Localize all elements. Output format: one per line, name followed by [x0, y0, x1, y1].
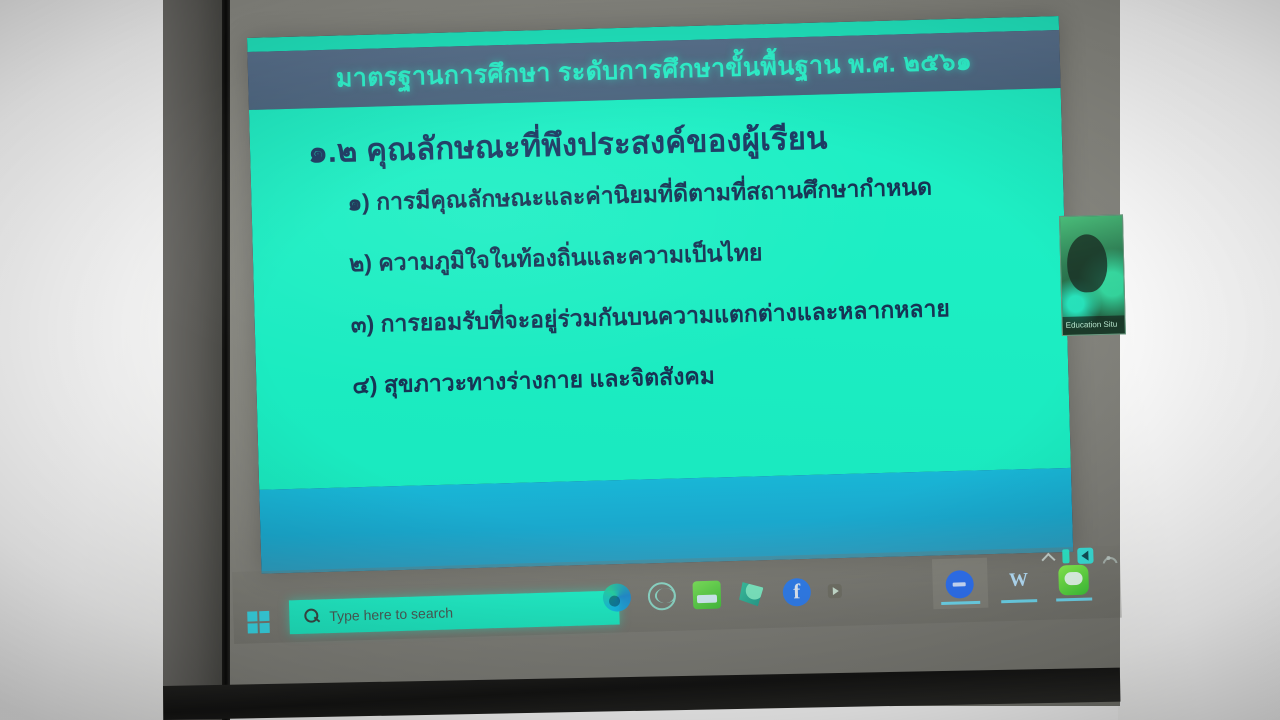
- slide-body: ๑.๒ คุณลักษณะที่พึงประสงค์ของผู้เรียน ๑)…: [249, 88, 1071, 490]
- media-play-icon[interactable]: [828, 584, 842, 598]
- screen-frame-left: [163, 0, 223, 720]
- windows-start-icon[interactable]: [247, 611, 274, 638]
- list-item: ๒) ความภูมิใจในท้องถิ่นและความเป็นไทย: [349, 227, 1050, 282]
- list-item: ๑) การมีคุณลักษณะและค่านิยมที่ดีตามที่สถ…: [347, 166, 1048, 221]
- running-indicator: [1001, 599, 1037, 603]
- volume-icon[interactable]: [1077, 547, 1093, 563]
- video-thumbnail-caption: Education Situ: [1062, 315, 1124, 335]
- photos-icon[interactable]: [692, 581, 721, 610]
- facebook-icon[interactable]: f: [782, 578, 811, 607]
- wifi-icon[interactable]: [1101, 548, 1117, 561]
- running-indicator: [941, 601, 980, 605]
- search-placeholder: Type here to search: [329, 604, 453, 624]
- video-thumbnail[interactable]: Education Situ: [1059, 214, 1126, 336]
- battery-icon[interactable]: [1062, 549, 1069, 563]
- taskbar-running-zoom[interactable]: [932, 558, 988, 610]
- edge-icon[interactable]: [603, 583, 632, 612]
- chevron-up-icon[interactable]: [1042, 551, 1054, 563]
- wall-left: [0, 0, 163, 720]
- slide-heading: ๑.๒ คุณลักษณะที่พึงประสงค์ของผู้เรียน: [307, 112, 828, 176]
- globe-icon[interactable]: [647, 582, 676, 611]
- presentation-slide[interactable]: มาตรฐานการศึกษา ระดับการศึกษาขั้นพื้นฐาน…: [247, 16, 1073, 574]
- silhouette-shape: [1066, 234, 1107, 293]
- system-tray: [1042, 541, 1123, 571]
- wondershare-icon: W: [1005, 569, 1032, 592]
- search-input[interactable]: Type here to search: [289, 591, 620, 635]
- search-icon: [303, 607, 322, 626]
- paint-icon[interactable]: [737, 579, 766, 608]
- list-item: ๔) สุขภาวะทางร่างกาย และจิตสังคม: [352, 349, 1053, 404]
- screen-frame-edge: [222, 0, 230, 720]
- running-indicator: [1056, 597, 1092, 601]
- list-item: ๓) การยอมรับที่จะอยู่ร่วมกันบนความแตกต่า…: [350, 288, 1051, 343]
- taskbar-pinned-icons: f: [602, 565, 933, 621]
- slide-title: มาตรฐานการศึกษา ระดับการศึกษาขั้นพื้นฐาน…: [335, 41, 972, 98]
- taskbar-running-wondershare[interactable]: W: [992, 556, 1045, 608]
- zoom-icon: [945, 570, 974, 599]
- projected-screen-photo: มาตรฐานการศึกษา ระดับการศึกษาขั้นพื้นฐาน…: [0, 0, 1280, 720]
- wall-right: [1118, 0, 1280, 720]
- slide-bullet-list: ๑) การมีคุณลักษณะและค่านิยมที่ดีตามที่สถ…: [347, 166, 1053, 429]
